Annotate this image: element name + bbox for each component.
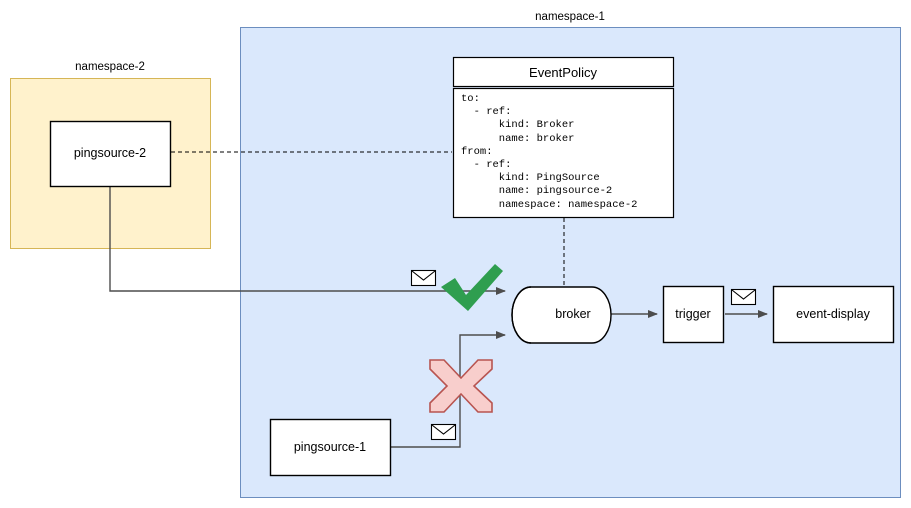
node-label-broker: broker (543, 307, 603, 321)
namespace-1-label: namespace-1 (240, 11, 900, 23)
eventpolicy-body: to: - ref: kind: Broker name: broker fro… (461, 93, 671, 212)
node-label-trigger: trigger (663, 307, 723, 321)
diagram-canvas: namespace-1 namespace-2 pingsource-2 pin… (0, 0, 911, 508)
node-label-pingsource-2: pingsource-2 (50, 146, 170, 160)
node-label-pingsource-1: pingsource-1 (270, 440, 390, 454)
envelope-icon-bottom (432, 425, 456, 440)
namespace-2-label: namespace-2 (10, 61, 210, 73)
envelope-icon-trigger (732, 290, 756, 305)
eventpolicy-title: EventPolicy (453, 65, 673, 80)
node-label-event-display: event-display (773, 307, 893, 321)
envelope-icon-top (412, 271, 436, 286)
